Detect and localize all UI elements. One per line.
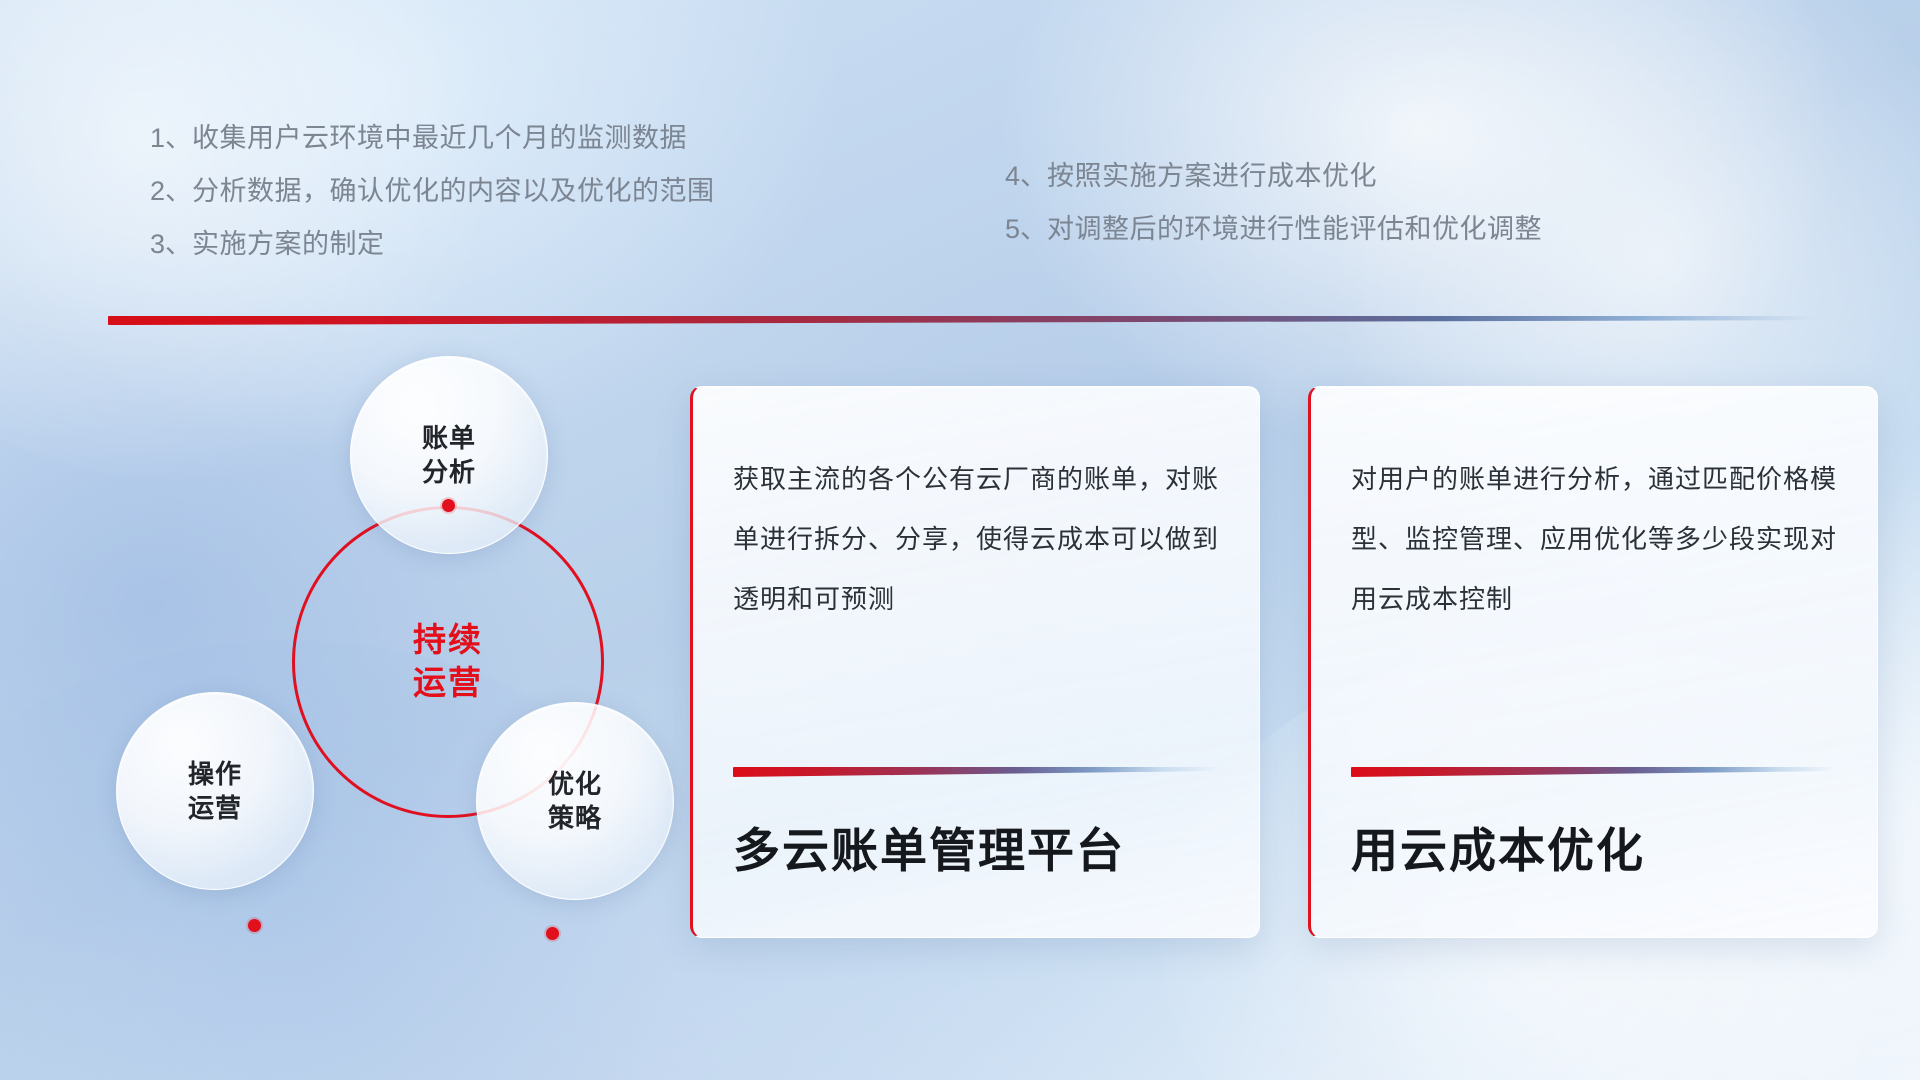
steps-left-column: 1、收集用户云环境中最近几个月的监测数据 2、分析数据，确认优化的内容以及优化的… [150, 112, 715, 271]
bubble-operations[interactable]: 操作 运营 [116, 692, 314, 890]
step-number-3: 3、 [150, 229, 192, 259]
card-multicloud-billing-title: 多云账单管理平台 [733, 823, 1219, 879]
section-divider [108, 316, 1814, 325]
card-multicloud-billing[interactable]: 获取主流的各个公有云厂商的账单，对账单进行拆分、分享，使得云成本可以做到透明和可… [690, 386, 1260, 938]
step-text-1: 收集用户云环境中最近几个月的监测数据 [192, 123, 687, 153]
venn-diagram: 持续 运营 账单 分析 操作 运营 优化 策略 [96, 350, 656, 950]
step-item-5: 5、对调整后的环境进行性能评估和优化调整 [1005, 203, 1542, 256]
card-cloud-cost-optimization-rule [1351, 767, 1837, 777]
card-cloud-cost-optimization-title: 用云成本优化 [1351, 823, 1837, 879]
step-number-5: 5、 [1005, 214, 1047, 244]
step-number-2: 2、 [150, 176, 192, 206]
bubble-optimization-strategy[interactable]: 优化 策略 [476, 702, 674, 900]
node-dot-bottom-right-icon [546, 927, 559, 940]
bubble-operations-line1: 操作 [188, 757, 242, 791]
card-cloud-cost-optimization-body: 对用户的账单进行分析，通过匹配价格模型、监控管理、应用优化等多少段实现对用云成本… [1351, 449, 1837, 629]
bubble-bill-analysis[interactable]: 账单 分析 [350, 356, 548, 554]
step-item-2: 2、分析数据，确认优化的内容以及优化的范围 [150, 165, 715, 218]
card-cloud-cost-optimization[interactable]: 对用户的账单进行分析，通过匹配价格模型、监控管理、应用优化等多少段实现对用云成本… [1308, 386, 1878, 938]
step-item-3: 3、实施方案的制定 [150, 218, 715, 271]
bubble-optimization-strategy-line1: 优化 [548, 767, 602, 801]
step-text-5: 对调整后的环境进行性能评估和优化调整 [1047, 214, 1542, 244]
node-dot-bottom-left-icon [248, 919, 261, 932]
node-dot-top-icon [442, 499, 455, 512]
step-item-4: 4、按照实施方案进行成本优化 [1005, 150, 1542, 203]
bubble-optimization-strategy-line2: 策略 [548, 801, 602, 835]
steps-section: 1、收集用户云环境中最近几个月的监测数据 2、分析数据，确认优化的内容以及优化的… [0, 0, 1920, 300]
step-item-1: 1、收集用户云环境中最近几个月的监测数据 [150, 112, 715, 165]
bubble-bill-analysis-line2: 分析 [422, 455, 476, 489]
steps-right-column: 4、按照实施方案进行成本优化 5、对调整后的环境进行性能评估和优化调整 [1005, 150, 1542, 256]
bubble-bill-analysis-line1: 账单 [422, 421, 476, 455]
step-text-3: 实施方案的制定 [192, 229, 385, 259]
card-multicloud-billing-body: 获取主流的各个公有云厂商的账单，对账单进行拆分、分享，使得云成本可以做到透明和可… [733, 449, 1219, 629]
bubble-operations-line2: 运营 [188, 791, 242, 825]
slide-canvas: 1、收集用户云环境中最近几个月的监测数据 2、分析数据，确认优化的内容以及优化的… [0, 0, 1920, 1080]
step-text-2: 分析数据，确认优化的内容以及优化的范围 [192, 176, 715, 206]
step-number-4: 4、 [1005, 161, 1047, 191]
card-multicloud-billing-rule [733, 767, 1219, 777]
step-number-1: 1、 [150, 123, 192, 153]
step-text-4: 按照实施方案进行成本优化 [1047, 161, 1377, 191]
